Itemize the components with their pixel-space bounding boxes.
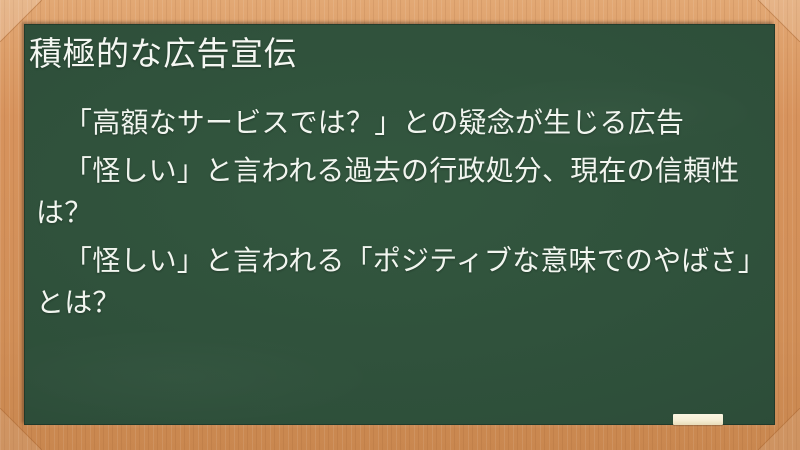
chalk-stick-icon bbox=[673, 414, 723, 425]
slide-content: 積極的な広告宣伝 「高額なサービスでは？」との疑念が生じる広告 「怪しい」と言わ… bbox=[24, 24, 775, 425]
list-item: 「怪しい」と言われる「ポジティブな意味でのやばさ」とは？ bbox=[36, 240, 768, 324]
page-title: 積極的な広告宣伝 bbox=[29, 32, 769, 76]
chalkboard-slide: 積極的な広告宣伝 「高額なサービスでは？」との疑念が生じる広告 「怪しい」と言わ… bbox=[0, 0, 800, 450]
bullet-list: 「高額なサービスでは？」との疑念が生じる広告 「怪しい」と言われる過去の行政処分… bbox=[36, 102, 768, 330]
chalkboard-surface: 積極的な広告宣伝 「高額なサービスでは？」との疑念が生じる広告 「怪しい」と言わ… bbox=[24, 24, 775, 425]
list-item: 「高額なサービスでは？」との疑念が生じる広告 bbox=[36, 102, 768, 144]
list-item: 「怪しい」と言われる過去の行政処分、現在の信頼性は？ bbox=[36, 150, 768, 234]
